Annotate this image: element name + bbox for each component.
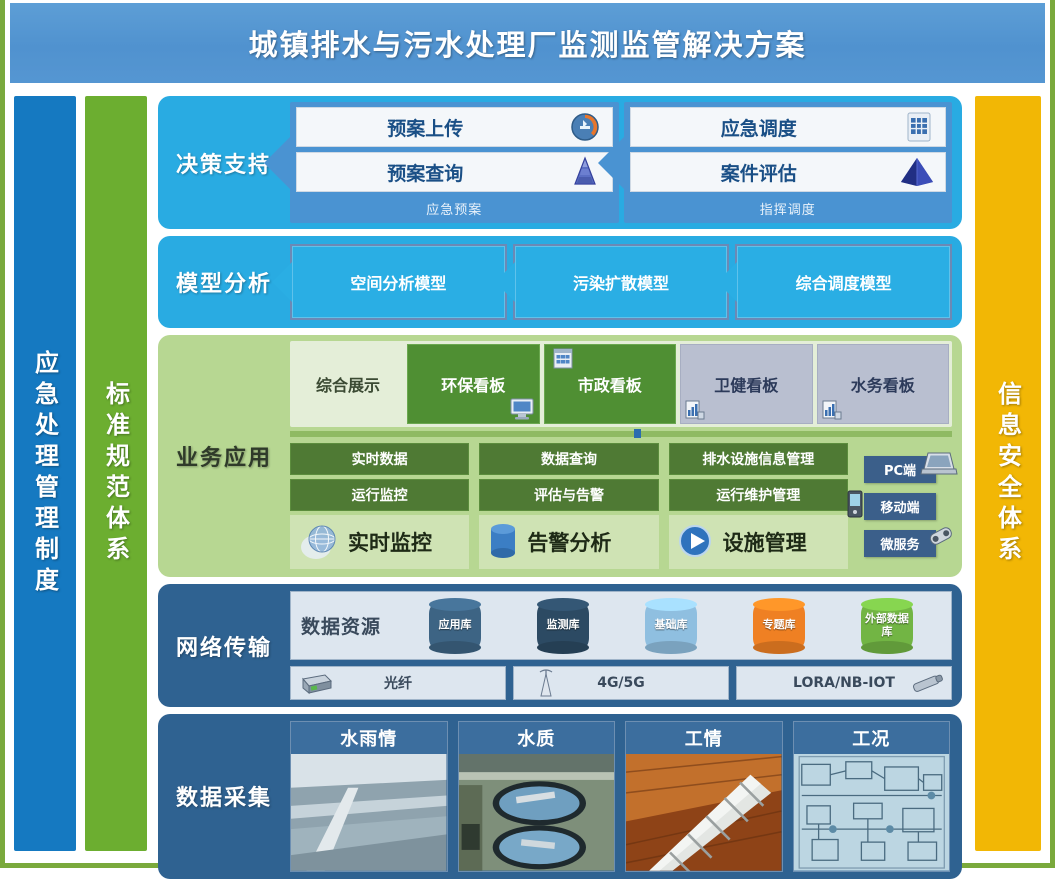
card-alarm-analysis[interactable]: 告警分析	[479, 515, 658, 569]
case-assessment-button[interactable]: 案件评估	[630, 152, 947, 192]
collection-item-label: 水雨情	[291, 722, 447, 754]
card-realtime-monitoring[interactable]: 实时监控	[290, 515, 469, 569]
btn-drainage-facility-info[interactable]: 排水设施信息管理	[669, 443, 848, 475]
network-transmission-panel: 网络传输 数据资源 应用库 监测库	[158, 584, 962, 707]
model-integrated-dispatch[interactable]: 综合调度模型	[735, 244, 952, 320]
model-item-label: 空间分析模型	[350, 270, 446, 294]
fiber-switch-icon	[299, 671, 333, 695]
arrow-notch-icon	[272, 262, 292, 302]
client-endpoints: PC端 移动端	[856, 443, 952, 569]
building-icon	[551, 347, 575, 371]
model-analysis-panel: 模型分析 空间分析模型 污染扩散模型 综合调度模型	[158, 236, 962, 328]
btn-realtime-data[interactable]: 实时数据	[290, 443, 469, 475]
sensor-node-icon	[909, 671, 947, 695]
pyramid-chart-icon	[568, 156, 602, 188]
database-label: 监测库	[537, 598, 589, 654]
database-label: 外部数据库	[861, 598, 913, 654]
endpoint-microservice-button[interactable]: 微服务	[864, 530, 936, 557]
data-collection-label: 数据采集	[158, 714, 290, 879]
data-resources-bar: 数据资源 应用库 监测库 基础库	[290, 591, 952, 660]
rail-standards-system: 标准规范体系	[85, 96, 147, 851]
arrow-notch-icon	[717, 262, 737, 302]
model-pollution-diffusion[interactable]: 污染扩散模型	[513, 244, 730, 320]
chart-doc-icon	[821, 399, 843, 421]
case-assessment-label: 案件评估	[631, 159, 888, 186]
model-item-label: 综合调度模型	[796, 270, 892, 294]
endpoint-mobile-button[interactable]: 移动端	[864, 493, 936, 520]
globe-icon	[296, 519, 342, 565]
tab-indicator	[634, 429, 641, 438]
model-item-label: 污染扩散模型	[573, 270, 669, 294]
tab-label: 市政看板	[578, 372, 642, 396]
emergency-dispatch-label: 应急调度	[631, 114, 888, 141]
mobile-phone-icon	[844, 489, 866, 519]
tab-water-dashboard[interactable]: 水务看板	[817, 344, 950, 424]
tab-label: 综合展示	[316, 372, 380, 396]
btn-operation-maintenance[interactable]: 运行维护管理	[669, 479, 848, 511]
link-4g5g[interactable]: 4G/5G	[513, 666, 729, 700]
database-monitoring[interactable]: 监测库	[537, 598, 589, 654]
emergency-plan-group: 预案上传 预案查询	[290, 102, 619, 223]
tab-environment-dashboard[interactable]: 环保看板	[407, 344, 540, 424]
business-column-monitoring: 实时数据 运行监控	[290, 443, 469, 569]
rail-label-security: 信息安全体系	[991, 381, 1026, 567]
sedimentation-tanks-photo	[459, 754, 615, 871]
rail-label-standards: 标准规范体系	[99, 381, 134, 567]
plan-upload-label: 预案上传	[297, 114, 554, 141]
calendar-grid-icon	[903, 110, 935, 144]
data-collection-panel: 数据采集 水雨情	[158, 714, 962, 879]
database-label: 应用库	[429, 598, 481, 654]
tab-comprehensive-display[interactable]: 综合展示	[293, 344, 403, 424]
decision-support-panel: 决策支持 预案上传	[158, 96, 962, 229]
page-title-bar: 城镇排水与污水处理厂监测监管解决方案	[10, 3, 1045, 87]
emergency-dispatch-button[interactable]: 应急调度	[630, 107, 947, 147]
laptop-icon	[920, 450, 958, 478]
business-application-panel: 业务应用 综合展示 环保看板	[158, 335, 962, 577]
endpoint-label: PC端	[884, 464, 916, 479]
buried-pipeline-photo	[626, 754, 782, 871]
collection-item-hydrology[interactable]: 水雨情	[290, 721, 448, 872]
layer-stack: 决策支持 预案上传	[158, 96, 962, 851]
link-fiber[interactable]: 光纤	[290, 666, 506, 700]
link-label: LORA/NB-IOT	[793, 675, 895, 691]
collection-item-label: 水质	[459, 722, 615, 754]
recycle-circle-icon	[568, 110, 602, 144]
scada-diagram-photo	[794, 754, 950, 871]
page-title: 城镇排水与污水处理厂监测监管解决方案	[248, 22, 806, 64]
arrow-notch-icon	[264, 137, 290, 189]
database-thematic[interactable]: 专题库	[753, 598, 805, 654]
arrow-notch-icon	[495, 262, 515, 302]
dashboard-tabs: 综合展示 环保看板	[290, 341, 952, 427]
card-title: 实时监控	[348, 527, 432, 557]
database-external[interactable]: 外部数据库	[861, 598, 913, 654]
command-dispatch-group: 应急调度	[624, 102, 953, 223]
business-column-facility: 排水设施信息管理 运行维护管理 设施管理	[669, 443, 848, 569]
database-label: 基础库	[645, 598, 697, 654]
tab-label: 卫健看板	[714, 372, 778, 396]
card-facility-management[interactable]: 设施管理	[669, 515, 848, 569]
endpoint-label: 移动端	[880, 501, 919, 516]
tab-label: 环保看板	[441, 372, 505, 396]
rail-information-security-system: 信息安全体系	[975, 96, 1041, 851]
monitor-icon	[509, 397, 535, 421]
collection-item-operating-status[interactable]: 工况	[793, 721, 951, 872]
business-column-alarm: 数据查询 评估与告警 告警分析	[479, 443, 658, 569]
collection-item-works-condition[interactable]: 工情	[625, 721, 783, 872]
collection-item-water-quality[interactable]: 水质	[458, 721, 616, 872]
link-label: 4G/5G	[597, 675, 645, 691]
play-circle-icon	[675, 521, 717, 563]
chart-doc-icon	[684, 399, 706, 421]
plan-query-button[interactable]: 预案查询	[296, 152, 613, 192]
emergency-plan-caption: 应急预案	[296, 197, 613, 221]
database-icon	[485, 521, 521, 563]
antenna-tower-icon	[534, 668, 558, 698]
database-application[interactable]: 应用库	[429, 598, 481, 654]
endpoint-pc-button[interactable]: PC端	[864, 456, 936, 483]
business-application-label: 业务应用	[158, 335, 290, 577]
endpoint-label: 微服务	[880, 538, 919, 553]
btn-data-query[interactable]: 数据查询	[479, 443, 658, 475]
data-resources-label: 数据资源	[301, 612, 381, 639]
solution-architecture-diagram: 城镇排水与污水处理厂监测监管解决方案 应急处理管理制度 标准规范体系 信息安全体…	[0, 0, 1055, 868]
btn-operation-monitoring[interactable]: 运行监控	[290, 479, 469, 511]
btn-assessment-alarm[interactable]: 评估与告警	[479, 479, 658, 511]
command-dispatch-caption: 指挥调度	[630, 197, 947, 221]
river-channel-photo	[291, 754, 447, 871]
link-lora-nbiot[interactable]: LORA/NB-IOT	[736, 666, 952, 700]
model-spatial-analysis[interactable]: 空间分析模型	[290, 244, 507, 320]
tab-health-dashboard[interactable]: 卫健看板	[680, 344, 813, 424]
tabs-underline	[290, 431, 952, 437]
plan-upload-button[interactable]: 预案上传	[296, 107, 613, 147]
plan-query-label: 预案查询	[297, 159, 554, 186]
collection-item-label: 工情	[626, 722, 782, 754]
tab-municipal-dashboard[interactable]: 市政看板	[544, 344, 677, 424]
tab-label: 水务看板	[851, 372, 915, 396]
handset-icon	[926, 526, 960, 554]
collection-item-label: 工况	[794, 722, 950, 754]
rail-emergency-management-system: 应急处理管理制度	[14, 96, 76, 851]
pyramid-3d-icon	[899, 156, 935, 188]
network-transmission-label: 网络传输	[158, 584, 290, 707]
arrow-notch-icon	[598, 137, 624, 189]
card-title: 告警分析	[527, 527, 611, 557]
card-title: 设施管理	[723, 527, 807, 557]
model-analysis-label: 模型分析	[158, 236, 290, 328]
database-label: 专题库	[753, 598, 805, 654]
rail-label-emergency: 应急处理管理制度	[28, 350, 63, 598]
link-label: 光纤	[384, 673, 412, 693]
database-basic[interactable]: 基础库	[645, 598, 697, 654]
